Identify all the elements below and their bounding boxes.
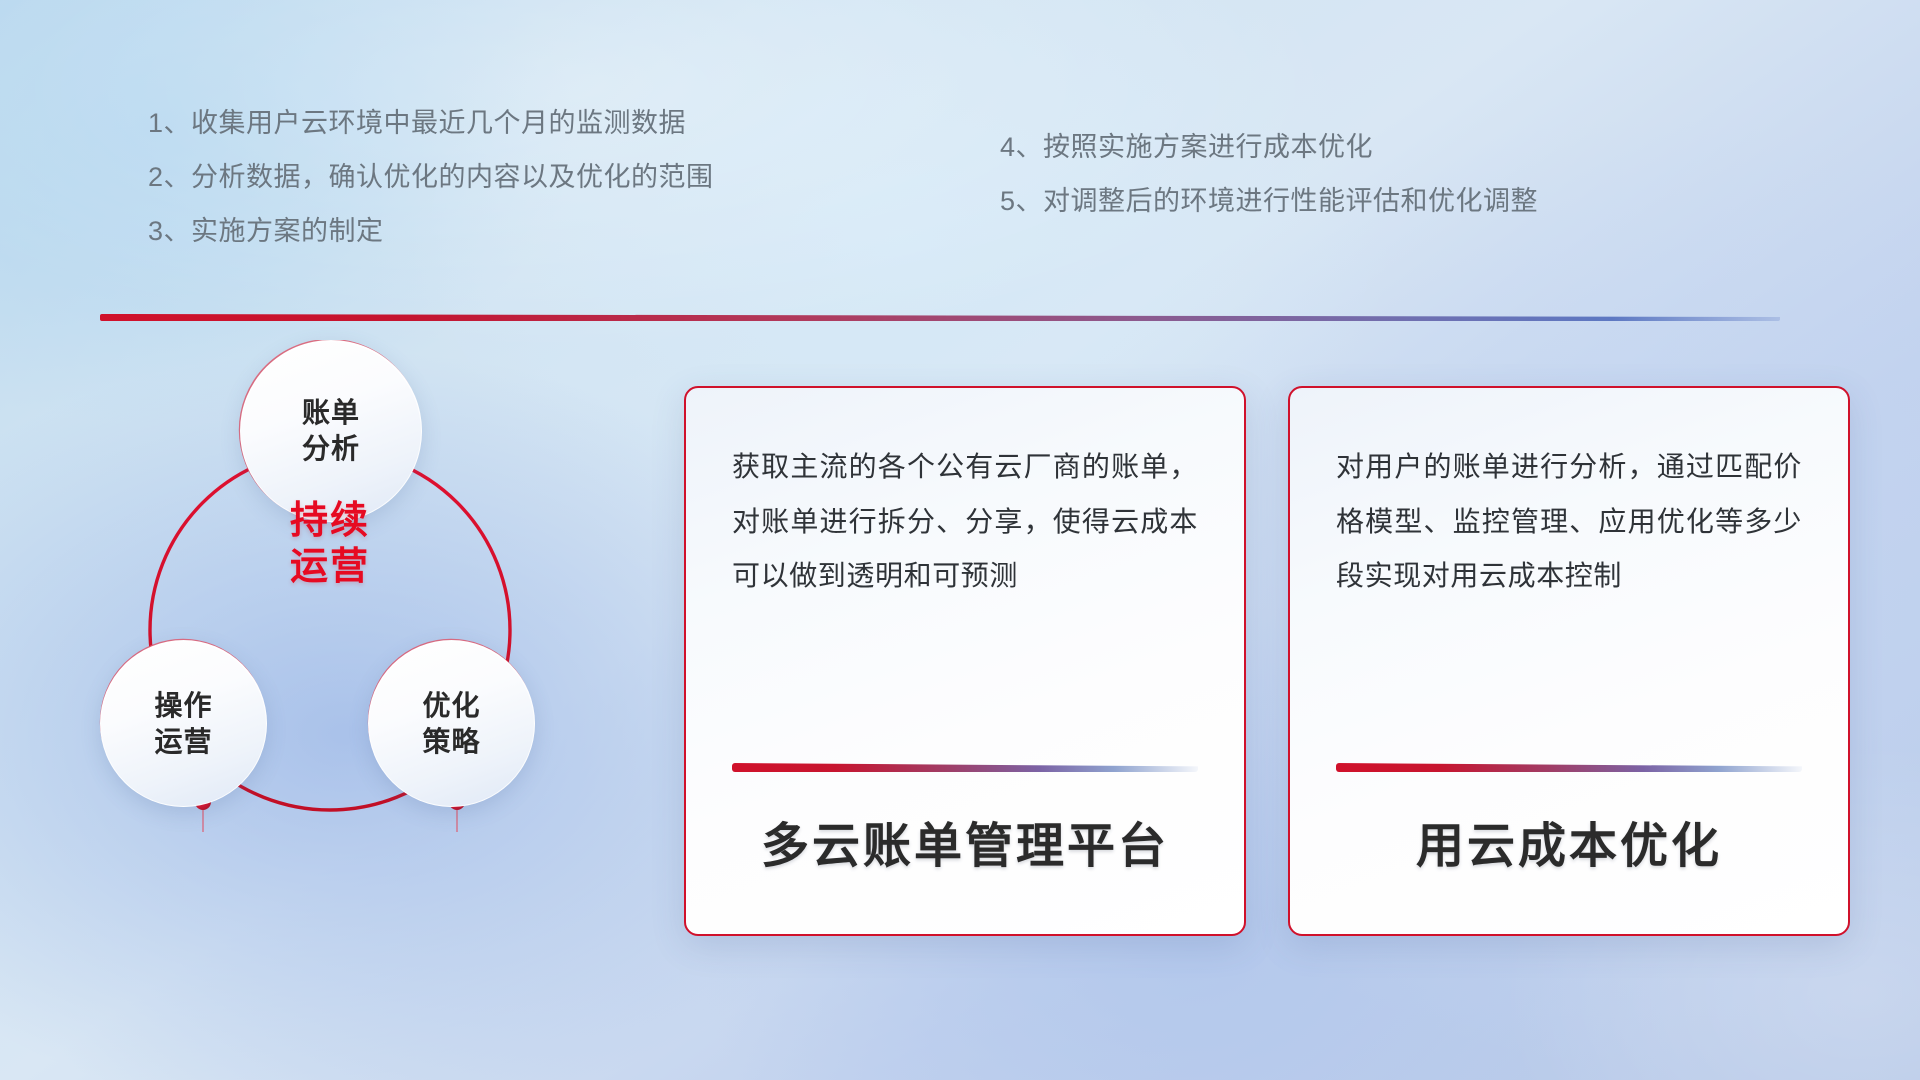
venn-center-label: 持续 运营 [240,498,420,591]
steps-left-column: 1、收集用户云环境中最近几个月的监测数据 2、分析数据，确认优化的内容以及优化的… [148,96,714,258]
card-two-accent-rule [1336,763,1802,772]
card-one-title: 多云账单管理平台 [732,806,1198,876]
venn-bubble-right-line2: 策略 [422,726,480,757]
venn-bubble-left-label: 操作 运营 [154,688,212,760]
card-multicloud-billing-platform[interactable]: 获取主流的各个公有云厂商的账单，对账单进行拆分、分享，使得云成本可以做到透明和可… [684,386,1246,936]
venn-bubble-left-line2: 运营 [154,726,212,757]
step-item-3: 3、实施方案的制定 [148,204,714,258]
slide-canvas: 1、收集用户云环境中最近几个月的监测数据 2、分析数据，确认优化的内容以及优化的… [0,0,1920,1080]
venn-bubble-left-line1: 操作 [154,690,212,721]
venn-bubble-top-line2: 分析 [302,433,360,464]
venn-bubble-billing-analysis[interactable]: 账单 分析 [240,340,422,522]
venn-bubble-optimization-strategy[interactable]: 优化 策略 [368,640,535,807]
card-cloud-cost-optimization[interactable]: 对用户的账单进行分析，通过匹配价格模型、监控管理、应用优化等多少段实现对用云成本… [1288,386,1850,936]
steps-right-column: 4、按照实施方案进行成本优化 5、对调整后的环境进行性能评估和优化调整 [1000,120,1538,228]
card-one-body: 获取主流的各个公有云厂商的账单，对账单进行拆分、分享，使得云成本可以做到透明和可… [732,440,1198,604]
venn-diagram: 账单 分析 操作 运营 优化 策略 持续 运营 [90,340,630,940]
venn-bubble-top-label: 账单 分析 [302,395,360,467]
venn-bubble-top-line1: 账单 [302,397,360,428]
card-two-body: 对用户的账单进行分析，通过匹配价格模型、监控管理、应用优化等多少段实现对用云成本… [1336,440,1802,604]
venn-bubble-right-line1: 优化 [422,690,480,721]
section-divider-line [100,314,1780,321]
venn-bubble-operations[interactable]: 操作 运营 [100,640,267,807]
step-item-2: 2、分析数据，确认优化的内容以及优化的范围 [148,150,714,204]
step-item-4: 4、按照实施方案进行成本优化 [1000,120,1538,174]
venn-center-line1: 持续 [290,500,370,542]
card-two-title: 用云成本优化 [1336,806,1802,876]
step-item-1: 1、收集用户云环境中最近几个月的监测数据 [148,96,714,150]
card-one-accent-rule [732,763,1198,772]
step-item-5: 5、对调整后的环境进行性能评估和优化调整 [1000,174,1538,228]
venn-center-line2: 运营 [290,546,370,588]
venn-bubble-right-label: 优化 策略 [422,688,480,760]
